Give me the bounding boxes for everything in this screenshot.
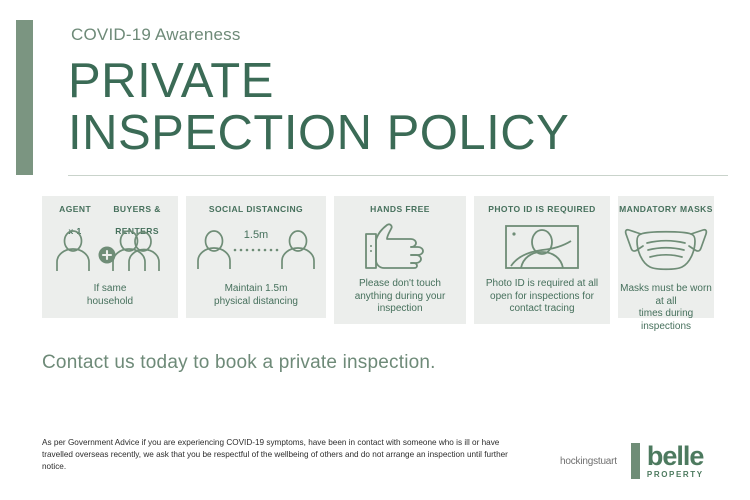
card-photoid-body: Photo ID is required at all open for ins…	[474, 278, 610, 316]
guideline-cards: AGENT x 1 BUYERS & RENTERS	[42, 196, 714, 324]
card-hands-body: Please don't touch anything during your …	[334, 278, 466, 316]
card-agents-body: If same household	[42, 283, 178, 308]
face-mask-icon	[618, 224, 714, 272]
card-photoid-heading: PHOTO ID IS REQUIRED	[474, 204, 610, 215]
card-social-body: Maintain 1.5m physical distancing	[186, 283, 326, 308]
two-people-distance-icon: 1.5m	[186, 224, 326, 270]
hand-icon	[334, 222, 466, 270]
card-masks-body: Masks must be worn at all times during i…	[618, 283, 714, 333]
card-hands-free: HANDS FREE Please don't touch anyt	[334, 196, 466, 324]
card-masks-heading: MANDATORY MASKS	[618, 204, 714, 215]
person-plus-group-icon	[42, 230, 178, 272]
card-mandatory-masks: MANDATORY MASKS Masks must be worn at al…	[618, 196, 714, 318]
belle-logo-name: belle	[647, 443, 704, 470]
contact-line: Contact us today to book a private inspe…	[42, 352, 436, 374]
page-title-line2: INSPECTION POLICY	[68, 107, 728, 159]
eyebrow-text: COVID-19 Awareness	[71, 25, 241, 45]
card-photo-id: PHOTO ID IS REQUIRED Photo ID is require…	[474, 196, 610, 324]
card-agents: AGENT x 1 BUYERS & RENTERS	[42, 196, 178, 318]
belle-logo-subtitle: PROPERTY	[647, 471, 704, 479]
belle-property-logo: belle PROPERTY	[647, 443, 704, 479]
distance-label: 1.5m	[244, 229, 268, 241]
hockingstuart-logo: hockingstuart	[560, 456, 617, 467]
card-social-heading: SOCIAL DISTANCING	[186, 204, 326, 215]
card-hands-heading: HANDS FREE	[334, 204, 466, 215]
page-title-line1: PRIVATE	[68, 54, 274, 108]
disclaimer-text: As per Government Advice if you are expe…	[42, 437, 517, 473]
id-card-icon	[474, 222, 610, 272]
header-divider	[68, 175, 728, 176]
belle-logo-bar	[631, 443, 640, 479]
accent-bar	[16, 20, 33, 175]
logo-group: hockingstuart belle PROPERTY	[560, 440, 720, 482]
poster: COVID-19 Awareness PRIVATE INSPECTION PO…	[0, 0, 750, 500]
card-social-distancing: SOCIAL DISTANCING 1.5m	[186, 196, 326, 318]
page-title: PRIVATE INSPECTION POLICY	[68, 55, 728, 159]
